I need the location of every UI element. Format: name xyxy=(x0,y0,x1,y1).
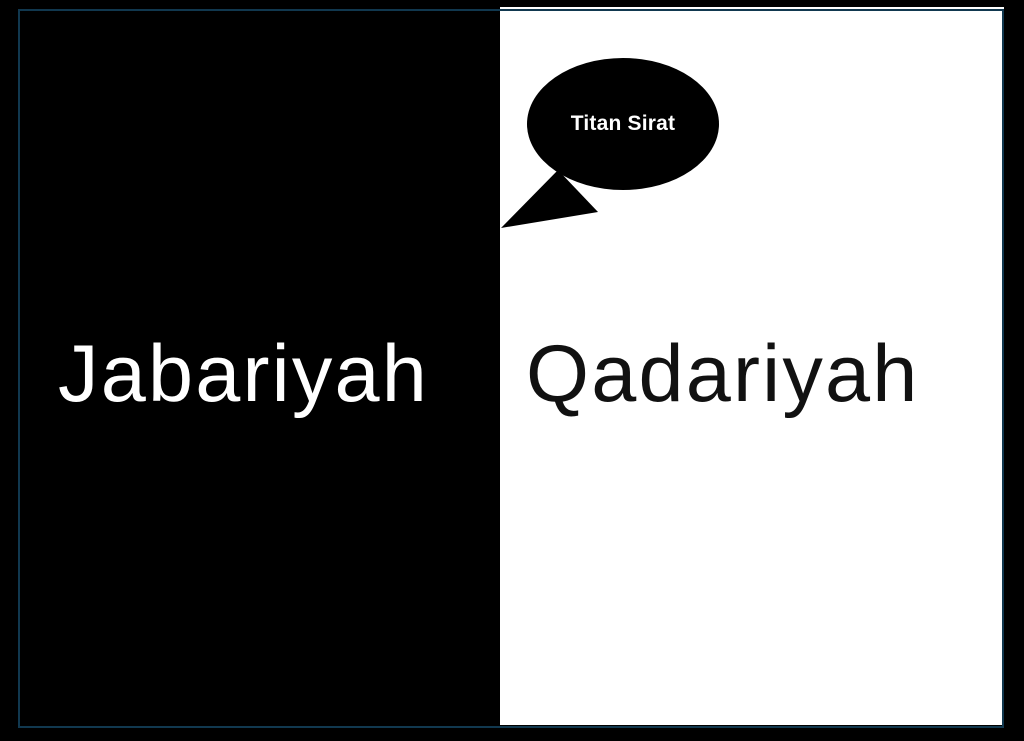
slide-canvas: Jabariyah Qadariyah Titan Sirat xyxy=(0,0,1024,741)
qadariyah-label: Qadariyah xyxy=(526,334,920,415)
speech-bubble xyxy=(480,50,740,245)
jabariyah-label: Jabariyah xyxy=(58,334,429,415)
speech-bubble-label: Titan Sirat xyxy=(527,112,719,135)
